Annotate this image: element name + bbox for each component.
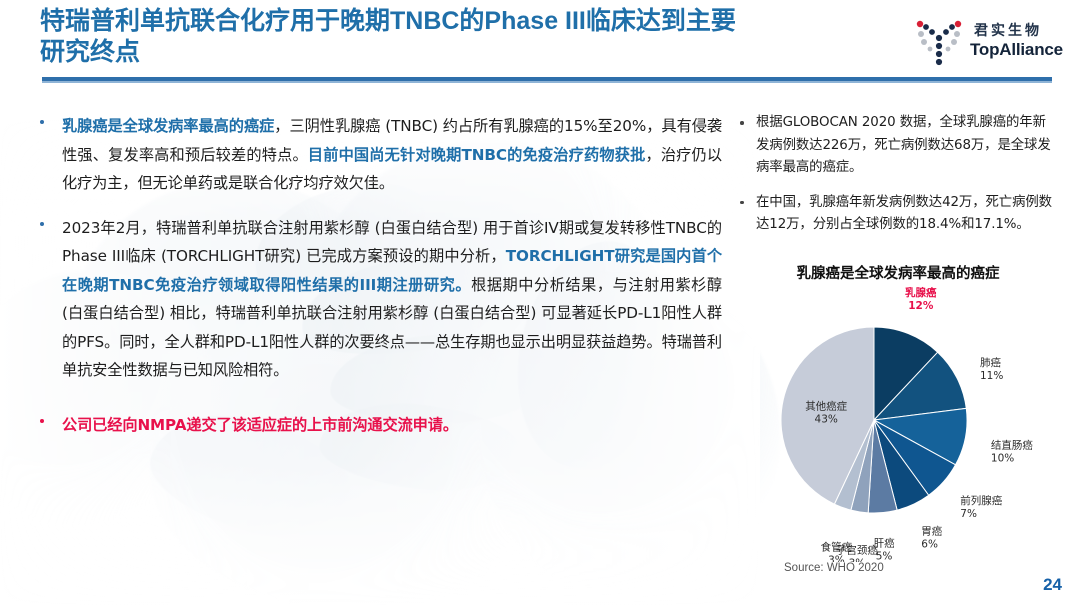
pie-label-1: 肺癌11% [980, 356, 1003, 382]
pie-label-2: 结直肠癌10% [991, 438, 1033, 464]
company-logo: 君实生物 TopAlliance [908, 14, 1058, 70]
logo-chinese-name: 君实生物 [974, 20, 1042, 40]
list-item: 2023年2月，特瑞普利单抗联合注射用紫杉醇 (白蛋白结合型) 用于首诊IV期或… [32, 214, 722, 385]
bullet-text-2: 2023年2月，特瑞普利单抗联合注射用紫杉醇 (白蛋白结合型) 用于首诊IV期或… [62, 214, 722, 385]
antibody-logo-icon [908, 15, 970, 69]
list-item: 公司已经向NMPA递交了该适应症的上市前沟通交流申请。 [32, 411, 722, 440]
bullet-dot-icon [740, 201, 744, 205]
page-number: 24 [1043, 575, 1062, 595]
bullet-text-3: 公司已经向NMPA递交了该适应症的上市前沟通交流申请。 [62, 411, 722, 440]
bullet-dot-icon [40, 120, 44, 124]
right-text-column: 根据GLOBOCAN 2020 数据，全球乳腺癌的年新发病例数达226万，死亡病… [738, 112, 1058, 249]
list-item: 根据GLOBOCAN 2020 数据，全球乳腺癌的年新发病例数达226万，死亡病… [738, 112, 1058, 180]
right-bullet-text-2: 在中国，乳腺癌年新发病例数达42万，死亡病例数达12万，分别占全球例数的18.4… [756, 192, 1058, 237]
pie-label-3: 前列腺癌7% [960, 494, 1002, 520]
pie-label-4: 胃癌6% [921, 524, 942, 550]
pie-chart-panel: 乳腺癌是全球发病率最高的癌症 乳腺癌12%肺癌11%结直肠癌10%前列腺癌7%胃… [738, 262, 1070, 562]
chart-source-note: Source: WHO 2020 [784, 562, 884, 574]
bullet-dot-icon [40, 222, 44, 226]
right-bullet-text-1: 根据GLOBOCAN 2020 数据，全球乳腺癌的年新发病例数达226万，死亡病… [756, 112, 1058, 180]
bullet-text-1: 乳腺癌是全球发病率最高的癌症，三阴性乳腺癌 (TNBC) 约占所有乳腺癌的15%… [62, 112, 722, 198]
logo-english-name: TopAlliance [970, 40, 1063, 60]
page-title: 特瑞普利单抗联合化疗用于晚期TNBC的Phase III临床达到主要研究终点 [40, 6, 740, 68]
bullet-dot-icon [40, 419, 44, 423]
list-item: 乳腺癌是全球发病率最高的癌症，三阴性乳腺癌 (TNBC) 约占所有乳腺癌的15%… [32, 112, 722, 198]
list-item: 在中国，乳腺癌年新发病例数达42万，死亡病例数达12万，分别占全球例数的18.4… [738, 192, 1058, 237]
pie-label-0: 乳腺癌12% [905, 286, 937, 312]
title-underline-rule [42, 77, 1052, 81]
left-text-column: 乳腺癌是全球发病率最高的癌症，三阴性乳腺癌 (TNBC) 约占所有乳腺癌的15%… [32, 112, 722, 455]
slide-canvas: 特瑞普利单抗联合化疗用于晚期TNBC的Phase III临床达到主要研究终点 君… [0, 0, 1080, 605]
cancer-incidence-pie-chart: 乳腺癌12%肺癌11%结直肠癌10%前列腺癌7%胃癌6%肝癌5%子宫颈癌3%食管… [738, 280, 1070, 562]
bullet-dot-icon [740, 121, 744, 125]
